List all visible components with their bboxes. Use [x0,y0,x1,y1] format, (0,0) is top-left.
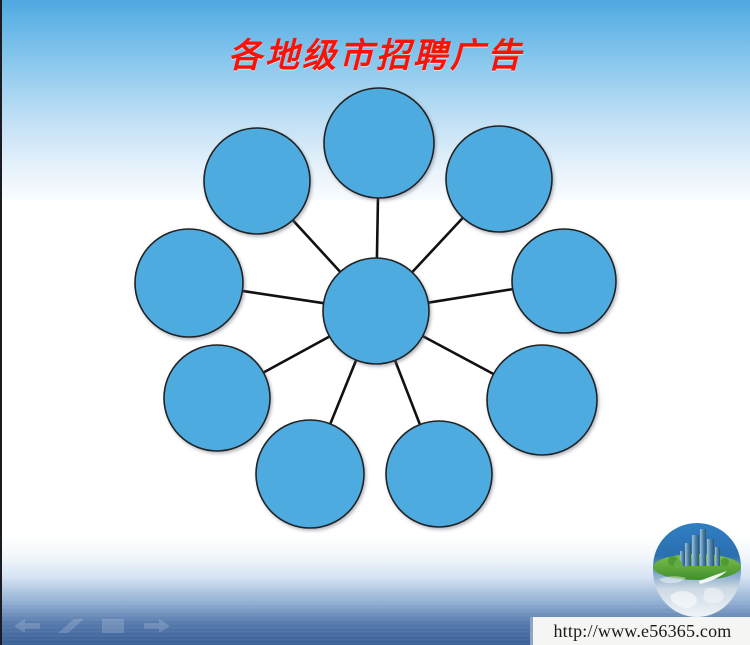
node-left-shape [135,229,243,337]
node-bottom-right-shape [386,421,492,527]
url-watermark: http://www.e56365.com [530,617,750,645]
node-lower-left-shape [164,345,270,451]
spoke-line-upper-right [411,217,463,273]
url-watermark-text: http://www.e56365.com [553,621,731,642]
node-top[interactable] [324,88,434,198]
node-top-shape [324,88,434,198]
spoke-line-upper-left [292,219,341,272]
node-bottom-left-shape [256,420,364,528]
spoke-line-bottom-left [330,359,357,425]
node-right[interactable] [512,229,616,333]
node-right-shape [512,229,616,333]
hub-and-spoke-diagram [2,0,750,645]
slide-canvas: 各地级市招聘广告 [0,0,750,645]
earth-city-globe-icon [647,523,747,619]
node-bottom-left[interactable] [256,420,364,528]
node-bottom-right[interactable] [386,421,492,527]
node-center[interactable] [323,258,429,364]
spoke-line-lower-left [263,336,331,373]
node-upper-left[interactable] [204,128,310,234]
spoke-line-left [241,291,324,304]
spoke-line-lower-right [422,336,495,375]
node-lower-left[interactable] [164,345,270,451]
node-upper-right[interactable] [446,126,552,232]
node-circles [135,88,616,528]
spoke-line-bottom-right [395,360,421,426]
node-upper-left-shape [204,128,310,234]
node-left[interactable] [135,229,243,337]
spoke-line-right [427,289,513,303]
node-lower-right[interactable] [487,345,597,455]
node-lower-right-shape [487,345,597,455]
node-center-shape [323,258,429,364]
node-upper-right-shape [446,126,552,232]
spoke-line-top [377,197,378,259]
